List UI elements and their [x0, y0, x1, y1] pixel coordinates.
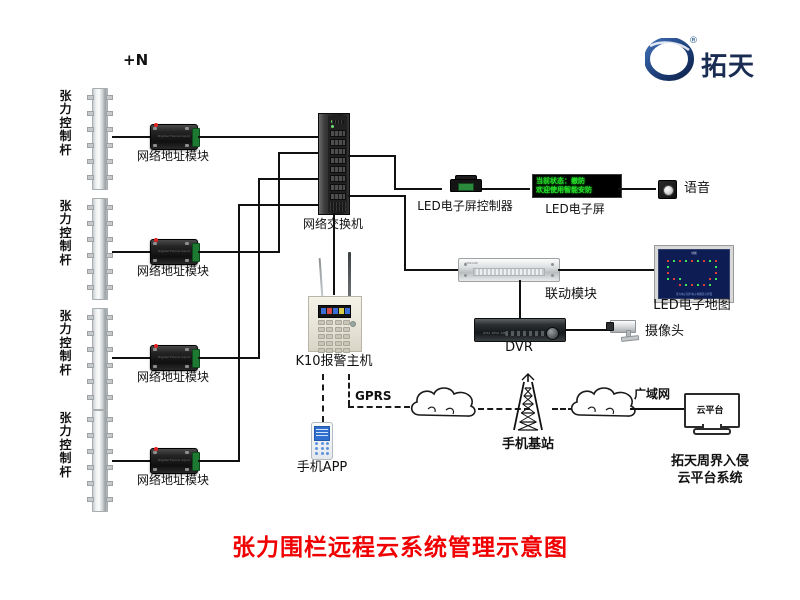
cloud-platform-monitor: 云平台: [684, 393, 736, 433]
tension-pole-4: [92, 410, 108, 512]
led-controller-label: LED电子屏控制器: [415, 200, 515, 214]
wire-module3-h: [198, 357, 260, 359]
plus-n-label: +N: [123, 52, 148, 69]
led-screen-controller: [450, 175, 480, 190]
dash-gprs-cloud: [348, 406, 410, 408]
brand-logo: ® 拓天: [645, 38, 785, 84]
network-address-module-4: Digital Fence Input: [150, 448, 198, 474]
network-switch: [318, 113, 350, 215]
wire-pole3-module3: [112, 357, 150, 359]
voice-label: 语音: [684, 182, 710, 197]
wire-ledscreen-voice: [618, 188, 656, 190]
base-station-tower-icon: [500, 372, 556, 434]
network-address-module-label-2: 网络地址模块: [127, 265, 219, 279]
dvr-label: DVR: [484, 341, 554, 356]
led-map-screen-caption: 张力电子围栏电子地图显示界面: [659, 292, 729, 296]
cloud-icon-left: [406, 385, 482, 425]
wan-label: 广域网: [634, 388, 670, 402]
led-electronic-map: 地图 张力电子围栏电子地图显示界面: [654, 245, 734, 303]
led-map-label: LED电子地图: [644, 299, 740, 314]
wire-switch-linkage-v: [404, 195, 406, 271]
mobile-app-label: 手机APP: [286, 461, 358, 476]
dash-k10-phone: [322, 374, 324, 422]
wire-pole2-module2: [112, 251, 150, 253]
led-screen-label: LED电子屏: [532, 203, 618, 217]
dash-k10-gprs-v: [348, 374, 350, 406]
linkage-module: LINKAGE: [458, 258, 560, 282]
camera-device: [606, 318, 642, 340]
tension-pole-label-1: 张力控制杆: [58, 90, 73, 157]
network-address-module-1: Digital Fence Input: [150, 124, 198, 150]
registered-mark: ®: [689, 36, 698, 46]
voice-speaker-icon: [658, 180, 677, 199]
wire-switch-linkage-h2: [404, 269, 460, 271]
network-address-module-2: Digital Fence Input: [150, 239, 198, 265]
tension-pole-label-4: 张力控制杆: [58, 412, 73, 479]
gprs-label: GPRS: [355, 390, 392, 404]
led-map-screen: 地图 张力电子围栏电子地图显示界面: [658, 249, 730, 299]
network-address-module-3: Digital Fence Input: [150, 345, 198, 371]
wire-module2-switch: [278, 152, 318, 154]
wire-linkage-ledmap: [558, 269, 654, 271]
k10-alarm-host: [308, 296, 362, 352]
network-address-module-label-1: 网络地址模块: [127, 150, 219, 164]
cloud-icon-right: [566, 385, 638, 425]
tension-pole-1: [92, 88, 108, 190]
led-map-screen-title: 地图: [659, 251, 729, 255]
tension-pole-2: [92, 198, 108, 300]
wire-switch-ledctl-h2: [394, 188, 442, 190]
led-screen-line-2: 欢迎使用智能安防: [536, 186, 618, 195]
diagram-canvas: ® 拓天 +N 张力控制杆 张力控制杆 张力控制杆 张力: [0, 0, 800, 600]
tension-pole-label-2: 张力控制杆: [58, 200, 73, 267]
wire-switch-linkage-h1: [348, 195, 406, 197]
wire-ledctl-ledscreen: [482, 188, 530, 190]
network-address-module-label-3: 网络地址模块: [127, 371, 219, 385]
wire-dvr-camera: [566, 329, 608, 331]
wire-switch-k10: [333, 213, 335, 295]
wire-switch-ledctl-h1: [348, 155, 396, 157]
led-screen-line-1: 当前状态：撤防: [536, 177, 618, 186]
cloud-system-label-line2: 云平台系统: [650, 472, 770, 487]
dvr-recorder: CH1 CH2 CH3 CH4: [474, 318, 566, 342]
brand-name: 拓天: [701, 46, 755, 83]
k10-alarm-host-label: K10报警主机: [289, 355, 379, 370]
wire-module4-v: [238, 204, 240, 462]
mobile-app-phone: [311, 422, 333, 460]
tension-pole-3: [92, 308, 108, 410]
diagram-title: 张力围栏远程云系统管理示意图: [0, 528, 800, 562]
wire-module2-v: [278, 152, 280, 253]
base-station-label: 手机基站: [492, 438, 564, 453]
wire-cloud-monitor: [630, 408, 688, 410]
linkage-module-label: 联动模块: [545, 288, 597, 303]
k10-antenna-left: [319, 258, 324, 298]
tension-pole-label-3: 张力控制杆: [58, 310, 73, 377]
led-electronic-screen: 当前状态：撤防 欢迎使用智能安防: [532, 174, 622, 198]
wire-pole4-module4: [112, 460, 150, 462]
camera-label: 摄像头: [645, 325, 684, 340]
wire-module4-h: [198, 460, 240, 462]
wire-switch-ledctl-v: [394, 155, 396, 190]
cloud-platform-screen-text: 云平台: [684, 403, 736, 416]
wire-pole1-module1: [112, 136, 150, 138]
cloud-system-label-line1: 拓天周界入侵: [650, 455, 770, 470]
network-address-module-label-4: 网络地址模块: [127, 474, 219, 488]
wire-module4-switch: [238, 204, 318, 206]
wire-module3-switch: [258, 178, 318, 180]
wire-module1-switch: [198, 136, 318, 138]
k10-antenna-right: [348, 252, 351, 298]
